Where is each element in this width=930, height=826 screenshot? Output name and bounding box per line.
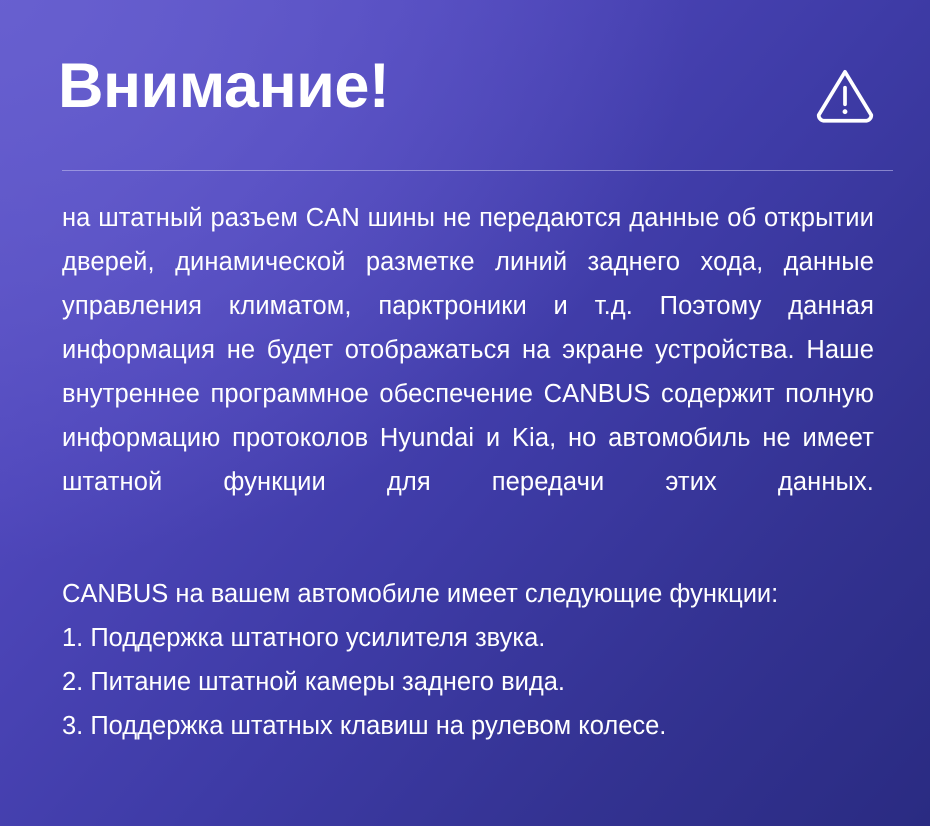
warning-triangle-icon	[812, 62, 878, 128]
list-item: 3. Поддержка штатных клавиш на рулевом к…	[62, 704, 874, 748]
paragraph-spacer	[62, 548, 874, 572]
attention-notice-banner: Внимание! на штатный разъем CAN шины не …	[0, 0, 930, 826]
banner-header: Внимание!	[0, 0, 930, 170]
header-divider	[62, 170, 893, 171]
list-item: 2. Питание штатной камеры заднего вида.	[62, 660, 874, 704]
notice-paragraph-1: на штатный разъем CAN шины не передаются…	[62, 196, 874, 548]
list-item: 1. Поддержка штатного усилителя звука.	[62, 616, 874, 660]
notice-body: на штатный разъем CAN шины не передаются…	[62, 196, 874, 748]
page-title: Внимание!	[58, 52, 389, 120]
functions-list-lead: CANBUS на вашем автомобиле имеет следующ…	[62, 572, 874, 616]
functions-list: 1. Поддержка штатного усилителя звука. 2…	[62, 616, 874, 748]
